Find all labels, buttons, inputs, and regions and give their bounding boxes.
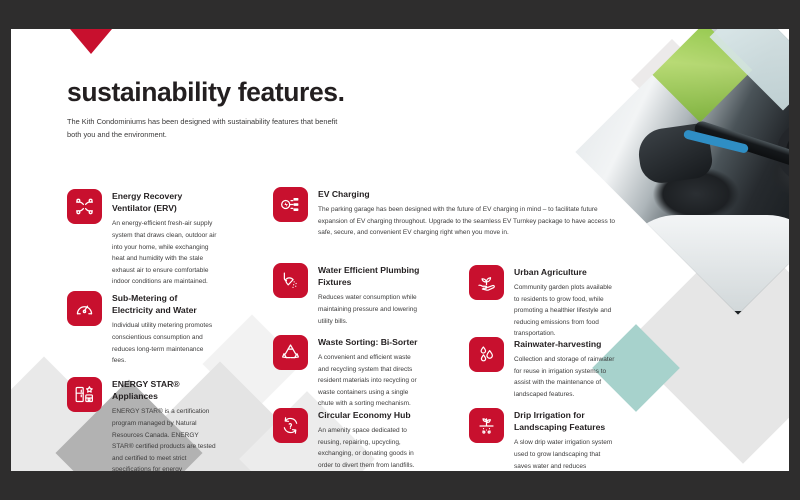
decorative-diamond-teal [697,29,789,127]
feature-waste-sorting-bi-sorter[interactable]: Waste Sorting: Bi-Sorter A convenient an… [273,335,423,410]
feature-title: Rainwater-harvesting [514,338,619,350]
feature-title: Sub-Metering of Electricity and Water [112,292,217,316]
plant-in-hand-icon [469,265,504,300]
shower-head-icon [273,263,308,298]
feature-sub-metering[interactable]: Sub-Metering of Electricity and Water In… [67,291,217,367]
feature-title: Drip Irrigation for Landscaping Features [514,409,619,433]
slide-canvas: sustainability features. The Kith Condom… [11,29,789,471]
feature-description: Individual utility metering promotes con… [112,320,217,366]
ev-charging-station-icon [273,187,308,222]
recycling-arrows-icon [273,335,308,370]
feature-drip-irrigation[interactable]: Drip Irrigation for Landscaping Features… [469,408,619,471]
decorative-diamond [624,226,789,464]
page-subtitle: The Kith Condominiums has been designed … [67,116,345,142]
feature-energy-star-appliances[interactable]: ENERGY STAR® Appliances ENERGY STAR® is … [67,377,217,471]
feature-description: Collection and storage of rainwater for … [514,354,619,400]
feature-title: EV Charging [318,188,625,200]
feature-description: A convenient and efficient waste and rec… [318,352,423,410]
feature-urban-agriculture[interactable]: Urban Agriculture Community garden plots… [469,265,619,340]
feature-ev-charging[interactable]: EV Charging The parking garage has been … [273,187,625,239]
gauge-meter-icon [67,291,102,326]
feature-title: Waste Sorting: Bi-Sorter [318,336,423,348]
page-title: sustainability features. [67,78,487,107]
feature-energy-recovery-ventilator[interactable]: Energy Recovery Ventilator (ERV) An ener… [67,189,217,288]
feature-title: Urban Agriculture [514,266,619,278]
circular-economy-icon [273,408,308,443]
feature-description: An energy-efficient fresh-air supply sys… [112,218,217,287]
feature-description: An amenity space dedicated to reusing, r… [318,425,423,471]
feature-water-efficient-plumbing[interactable]: Water Efficient Plumbing Fixtures Reduce… [273,263,423,327]
feature-description: Reduces water consumption while maintain… [318,292,423,327]
feature-title: Circular Economy Hub [318,409,423,421]
water-droplets-icon [469,337,504,372]
feature-rainwater-harvesting[interactable]: Rainwater-harvesting Collection and stor… [469,337,619,400]
drip-irrigation-plant-icon [469,408,504,443]
feature-description: Community garden plots available to resi… [514,282,619,340]
feature-title: Water Efficient Plumbing Fixtures [318,264,423,288]
feature-description: ENERGY STAR® is a certification program … [112,406,217,471]
red-down-triangle-icon [70,29,112,54]
feature-title: ENERGY STAR® Appliances [112,378,217,402]
decorative-diamond [631,39,713,121]
header: sustainability features. The Kith Condom… [67,78,487,142]
feature-title: Energy Recovery Ventilator (ERV) [112,190,217,214]
feature-circular-economy-hub[interactable]: Circular Economy Hub An amenity space de… [273,408,423,471]
feature-description: A slow drip water irrigation system used… [514,437,619,471]
decorative-diamond [740,90,789,178]
ventilation-airflow-icon [67,189,102,224]
appliances-fridge-icon [67,377,102,412]
feature-description: The parking garage has been designed wit… [318,204,625,239]
